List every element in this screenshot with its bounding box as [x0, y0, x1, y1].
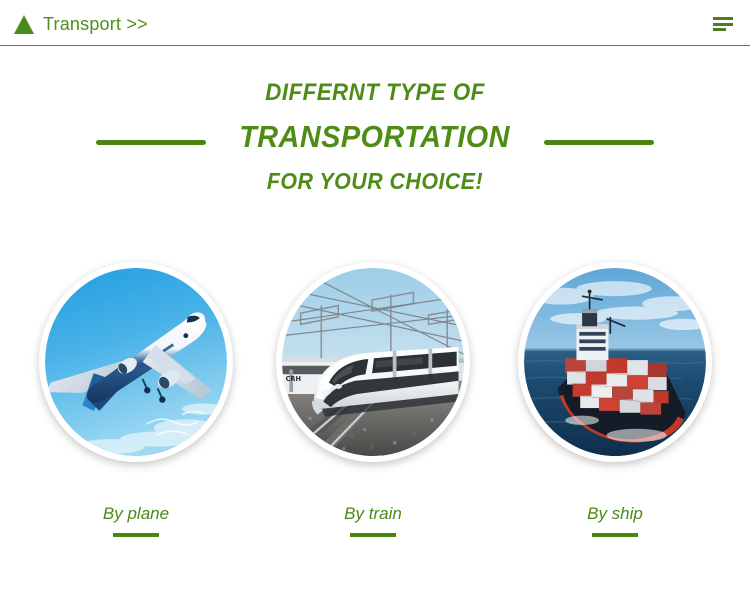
plane-circle-frame — [39, 262, 233, 462]
title-line-2-wrapper: TRANSPORTATION — [0, 117, 750, 157]
title-rule-right — [544, 140, 654, 145]
title-line-1: DIFFERNT TYPE OF — [26, 78, 724, 108]
transport-card-plane[interactable]: By plane — [39, 262, 233, 537]
brand-link[interactable]: Transport >> — [14, 14, 148, 34]
train-circle-frame: CRH — [276, 262, 470, 462]
triangle-up-icon — [14, 15, 34, 34]
train-image: CRH — [282, 268, 464, 456]
transport-options-list: By plane — [0, 262, 750, 562]
card-underline-train — [350, 533, 396, 537]
hamburger-bar-3 — [713, 28, 726, 31]
svg-text:CRH: CRH — [286, 375, 301, 383]
page-root: Transport >> DIFFERNT TYPE OF TRANSPORTA… — [0, 0, 750, 589]
transport-card-ship[interactable]: By ship — [518, 262, 712, 537]
site-header: Transport >> — [0, 0, 750, 46]
hamburger-menu-icon[interactable] — [713, 17, 733, 31]
transport-card-train[interactable]: CRH — [276, 262, 470, 537]
title-line-3: FOR YOUR CHOICE! — [26, 166, 724, 196]
ship-circle-frame — [518, 262, 712, 462]
page-title-block: DIFFERNT TYPE OF TRANSPORTATION FOR YOUR… — [0, 78, 750, 196]
title-rule-left — [96, 140, 206, 145]
card-caption-plane: By plane — [39, 504, 233, 524]
title-line-2: TRANSPORTATION — [240, 118, 511, 156]
plane-image — [45, 268, 227, 456]
ship-image — [524, 268, 706, 456]
card-underline-ship — [592, 533, 638, 537]
hamburger-bar-1 — [713, 17, 733, 20]
card-underline-plane — [113, 533, 159, 537]
card-caption-ship: By ship — [518, 504, 712, 524]
hamburger-bar-2 — [713, 23, 733, 26]
card-caption-train: By train — [276, 504, 470, 524]
brand-label: Transport >> — [43, 14, 148, 34]
